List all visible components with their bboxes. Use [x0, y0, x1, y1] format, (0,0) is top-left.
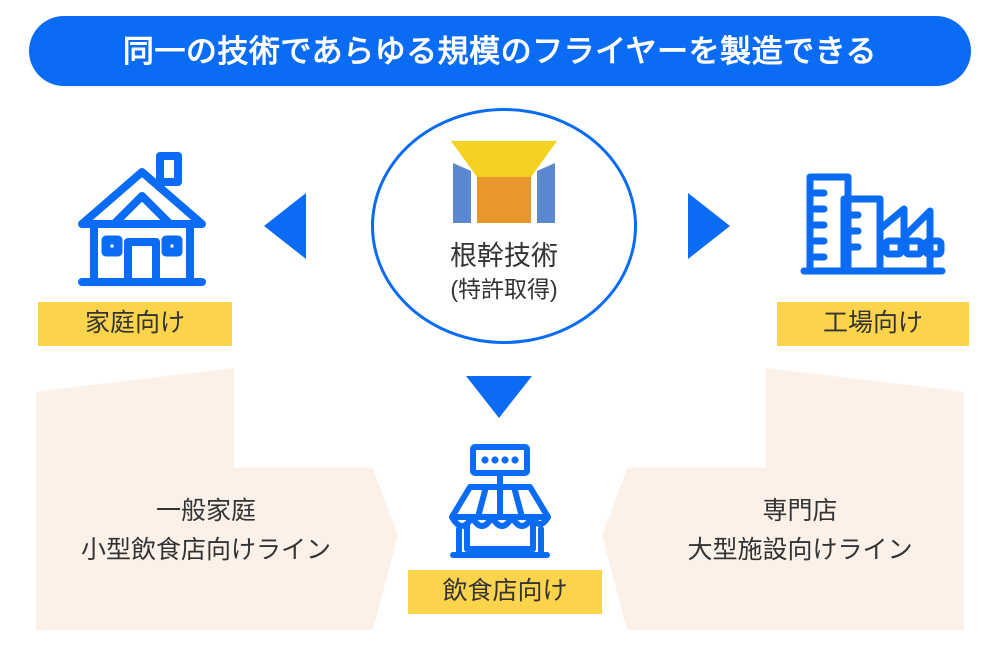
- node-home: [74, 150, 210, 295]
- page-title: 同一の技術であらゆる規模のフライヤーを製造できる: [123, 36, 877, 67]
- tag-shop: 飲食店向け: [408, 570, 602, 614]
- diagram-canvas: 一般家庭 小型飲食店向けライン 専門店 大型施設向けライン 同一の技術であらゆる…: [0, 0, 1000, 659]
- core-technology-sublabel: (特許取得): [374, 277, 634, 303]
- line-panel-right-line1: 専門店: [630, 492, 970, 531]
- arrow-right-icon: [688, 193, 730, 259]
- factory-icon: [800, 165, 946, 288]
- funnel-fryer-icon: [445, 137, 563, 234]
- line-panel-left-text: 一般家庭 小型飲食店向けライン: [36, 492, 376, 570]
- tag-factory: 工場向け: [777, 302, 969, 346]
- arrow-down-icon: [466, 376, 532, 418]
- core-technology-label: 根幹技術: [374, 241, 634, 271]
- line-panel-right-text: 専門店 大型施設向けライン: [630, 492, 970, 570]
- house-icon: [74, 150, 210, 295]
- arrow-left-icon: [264, 193, 306, 259]
- core-technology-node: 根幹技術 (特許取得): [371, 108, 637, 344]
- line-panel-left-line1: 一般家庭: [36, 492, 376, 531]
- node-factory: [800, 165, 946, 288]
- line-panel-right-line2: 大型施設向けライン: [630, 531, 970, 570]
- storefront-icon: [445, 443, 555, 568]
- line-panel-left-line2: 小型飲食店向けライン: [36, 531, 376, 570]
- header-banner: 同一の技術であらゆる規模のフライヤーを製造できる: [29, 16, 971, 86]
- tag-home: 家庭向け: [38, 302, 232, 346]
- node-shop: [445, 443, 555, 568]
